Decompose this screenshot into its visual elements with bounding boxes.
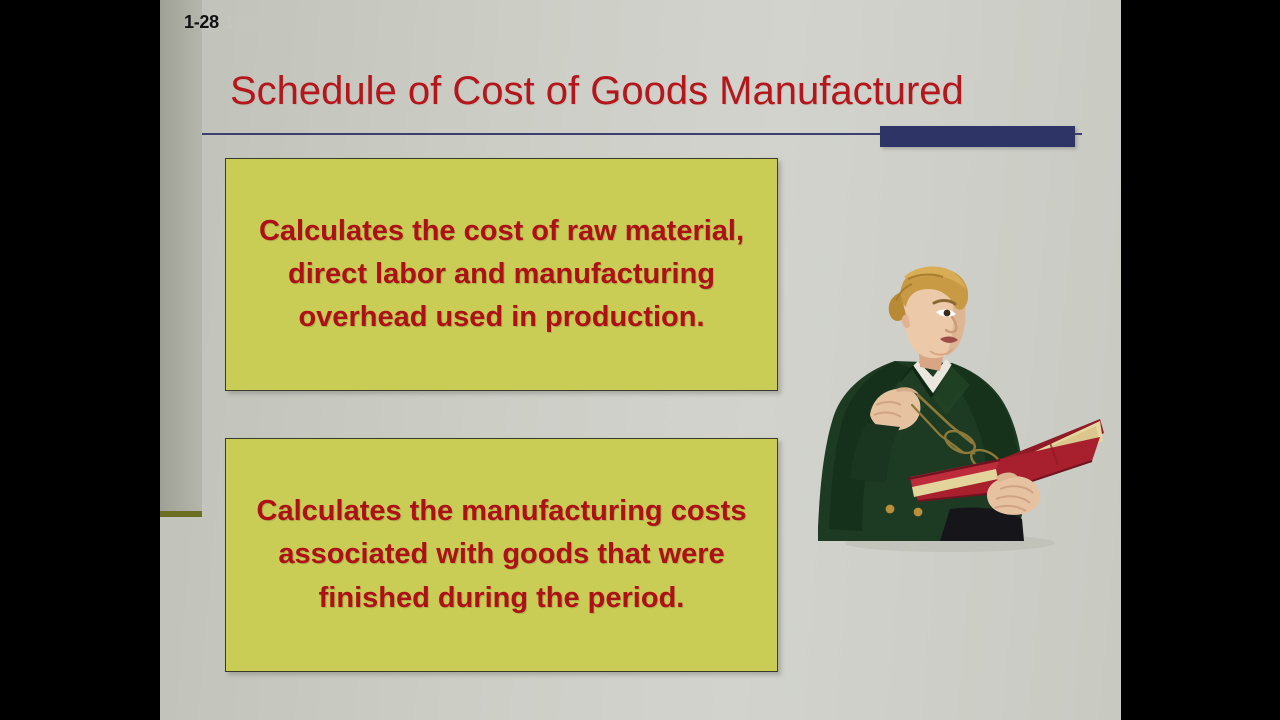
letterbox-right	[1121, 0, 1280, 720]
callout-text-raw-material: Calculates the cost of raw material, dir…	[226, 210, 777, 340]
slide-number-ghost: 1-28	[224, 12, 260, 33]
slide-number: 1-28	[184, 12, 219, 33]
callout-text-finished-goods: Calculates the manufacturing costs assoc…	[226, 490, 777, 620]
page-title: Schedule of Cost of Goods Manufactured	[230, 69, 1110, 114]
left-decorative-column-foot	[160, 511, 202, 517]
woman-reading-book-illustration	[800, 265, 1110, 555]
slide-canvas: 1-28 1-28 Schedule of Cost of Goods Manu…	[160, 0, 1121, 720]
letterbox-left	[0, 0, 160, 720]
callout-box-finished-goods: Calculates the manufacturing costs assoc…	[225, 438, 778, 672]
title-accent-bar	[880, 126, 1075, 147]
slide-viewport: 1-28 1-28 Schedule of Cost of Goods Manu…	[0, 0, 1280, 720]
callout-box-raw-material: Calculates the cost of raw material, dir…	[225, 158, 778, 391]
left-decorative-column	[160, 0, 202, 511]
